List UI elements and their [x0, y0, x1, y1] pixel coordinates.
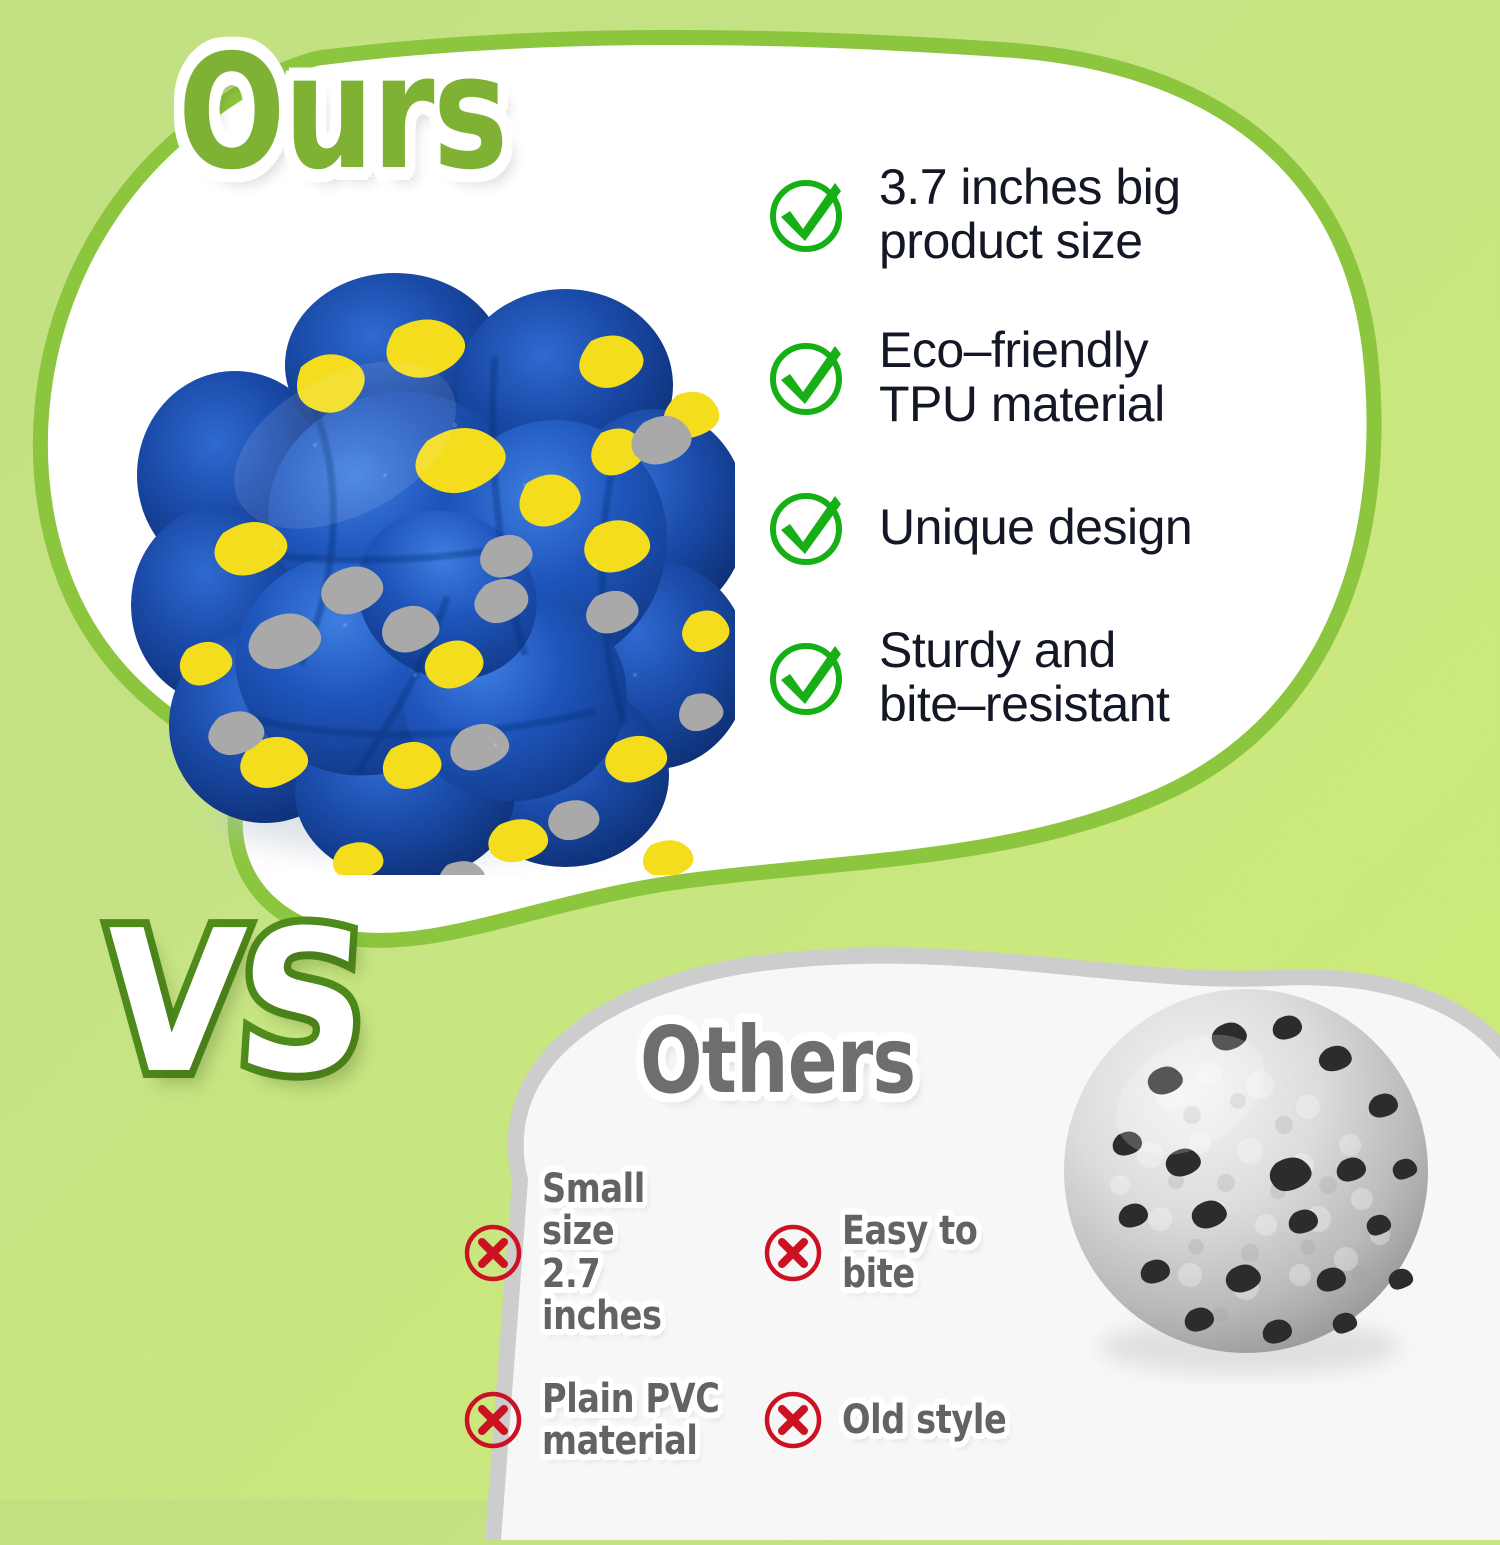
drawback-item: Easy to bite — [762, 1168, 1082, 1338]
green-check-circle-icon — [765, 336, 847, 418]
feature-label: Sturdy and bite–resistant — [879, 623, 1169, 731]
vs-badge: VS — [97, 905, 368, 1101]
drawback-item: Old style — [762, 1378, 1082, 1463]
feature-item: Sturdy and bite–resistant — [765, 623, 1325, 731]
green-check-circle-icon — [765, 486, 847, 568]
feature-label: Unique design — [879, 500, 1192, 554]
drawback-item: Plain PVC material — [462, 1378, 762, 1463]
feature-item: Unique design — [765, 486, 1325, 568]
ours-feature-list: 3.7 inches big product size Eco–friendly… — [765, 160, 1325, 731]
drawback-label: Small size 2.7 inches — [542, 1168, 727, 1338]
green-check-circle-icon — [765, 636, 847, 718]
feature-item: 3.7 inches big product size — [765, 160, 1325, 268]
feature-item: Eco–friendly TPU material — [765, 323, 1325, 431]
red-x-circle-icon — [762, 1222, 824, 1284]
ours-product-image — [95, 245, 735, 875]
red-x-circle-icon — [462, 1389, 524, 1451]
others-title: Others — [640, 1015, 915, 1107]
red-x-circle-icon — [462, 1222, 524, 1284]
comparison-infographic: Ours — [0, 0, 1500, 1500]
others-drawback-list: Small size 2.7 inches Easy to bite Plain… — [462, 1168, 1092, 1462]
others-product-image — [1050, 975, 1460, 1385]
red-x-circle-icon — [762, 1389, 824, 1451]
feature-label: Eco–friendly TPU material — [879, 323, 1165, 431]
drawback-item: Small size 2.7 inches — [462, 1168, 762, 1338]
drawback-label: Plain PVC material — [542, 1378, 719, 1463]
drawback-label: Old style — [842, 1399, 1006, 1441]
feature-label: 3.7 inches big product size — [879, 160, 1181, 268]
drawback-label: Easy to bite — [842, 1210, 1044, 1295]
ours-title: Ours — [178, 34, 507, 192]
green-check-circle-icon — [765, 173, 847, 255]
